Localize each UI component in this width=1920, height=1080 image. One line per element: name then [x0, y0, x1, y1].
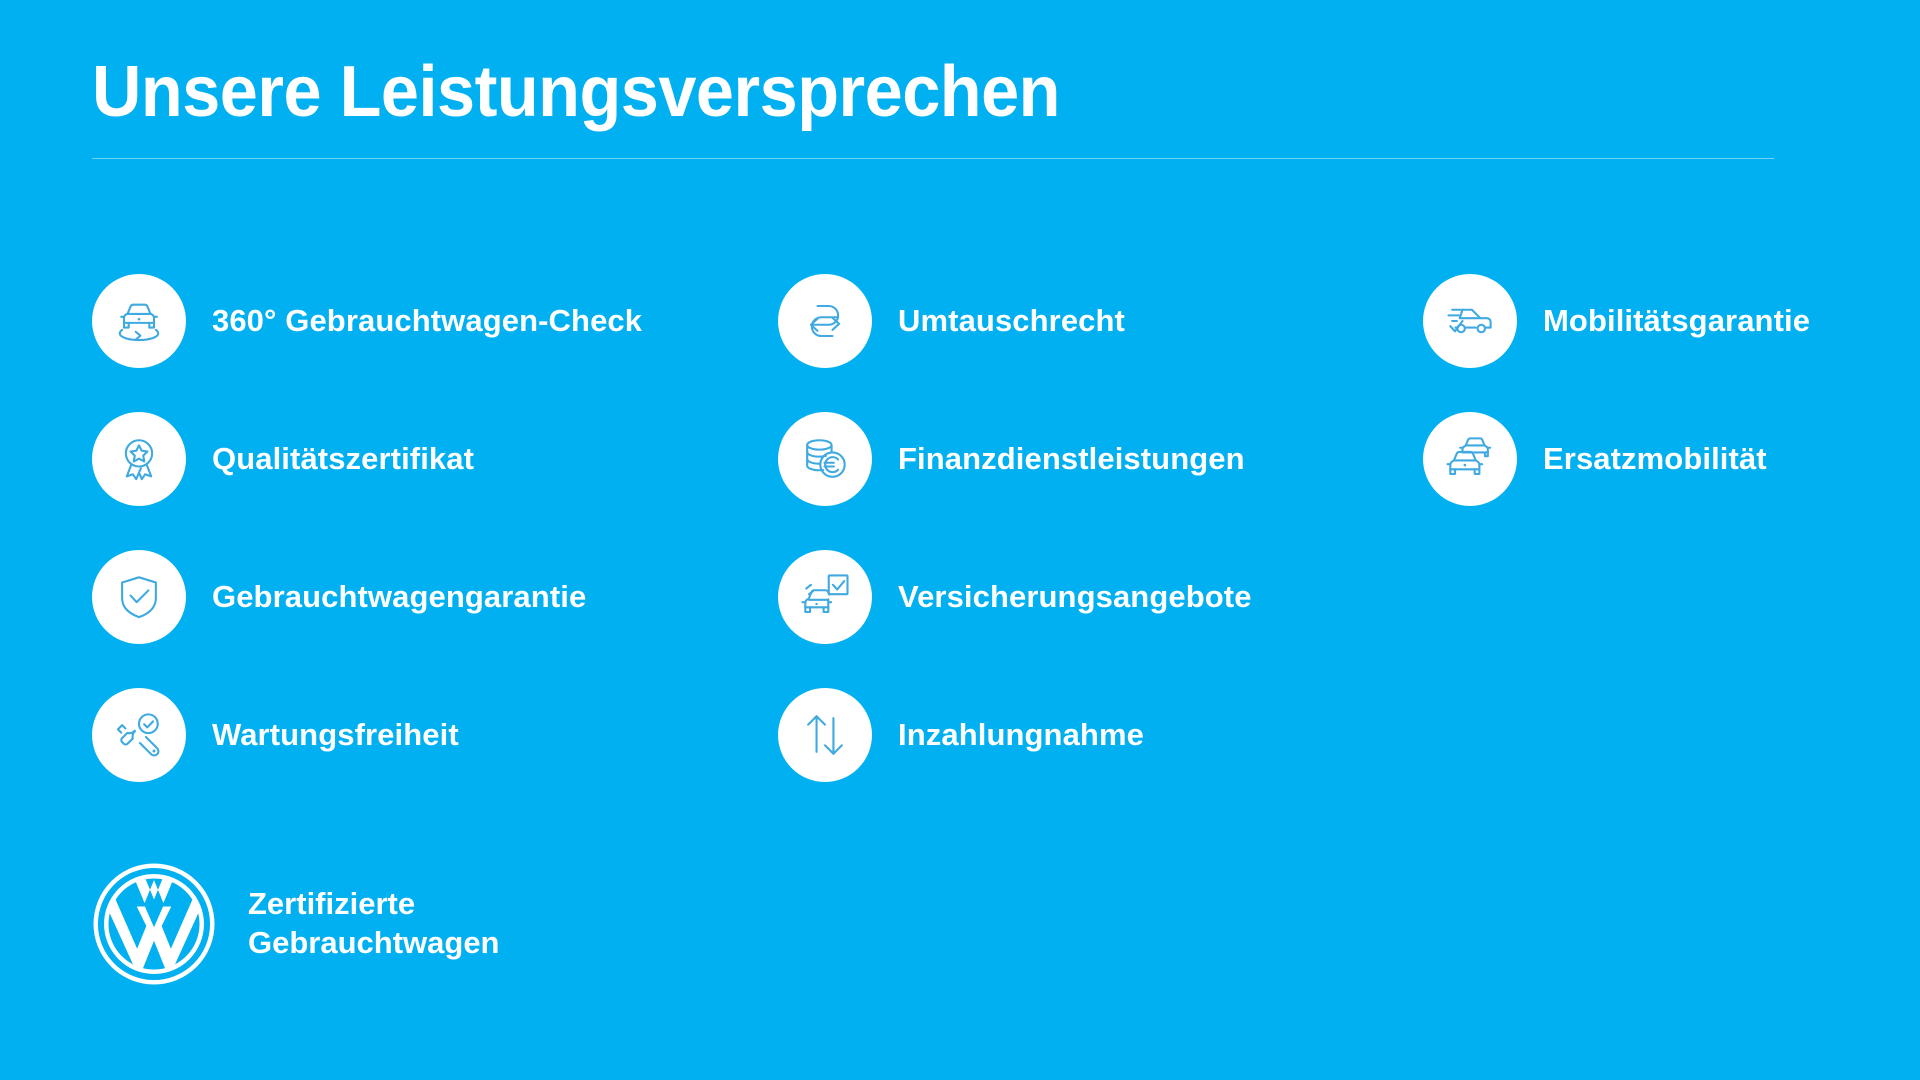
- brand-text: Zertifizierte Gebrauchtwagen: [248, 885, 500, 963]
- wrench-check-icon: [92, 688, 186, 782]
- promise-item-replacement-mobility[interactable]: Ersatzmobilität: [1423, 406, 1863, 511]
- promise-poster: Unsere Leistungsversprechen: [0, 0, 1920, 1080]
- promise-column-2: Umtauschrecht Finanz: [778, 268, 1423, 787]
- promise-label: Inzahlungnahme: [898, 717, 1144, 753]
- title-divider: [92, 158, 1774, 159]
- coins-euro-icon: [778, 412, 872, 506]
- page-title: Unsere Leistungsversprechen: [92, 56, 1775, 128]
- promise-label: Versicherungsangebote: [898, 579, 1252, 615]
- promise-label: Finanzdienstleistungen: [898, 441, 1245, 477]
- promise-column-3: Mobilitätsgarantie: [1423, 268, 1863, 787]
- promise-item-exchange-right[interactable]: Umtauschrecht: [778, 268, 1423, 373]
- promise-item-mobility-guarantee[interactable]: Mobilitätsgarantie: [1423, 268, 1863, 373]
- shield-check-icon: [92, 550, 186, 644]
- promise-label: Ersatzmobilität: [1543, 441, 1767, 477]
- promise-label: Umtauschrecht: [898, 303, 1125, 339]
- promise-label: Wartungsfreiheit: [212, 717, 459, 753]
- brand-lockup: Zertifizierte Gebrauchtwagen: [92, 862, 500, 986]
- exchange-arrows-icon: [778, 274, 872, 368]
- header: Unsere Leistungsversprechen: [92, 56, 1864, 159]
- promise-label: 360° Gebrauchtwagen-Check: [212, 303, 642, 339]
- promise-columns: 360° Gebrauchtwagen-Check Qualitätszerti…: [92, 268, 1882, 787]
- promise-label: Mobilitätsgarantie: [1543, 303, 1810, 339]
- promise-column-1: 360° Gebrauchtwagen-Check Qualitätszerti…: [92, 268, 778, 787]
- promise-label: Qualitätszertifikat: [212, 441, 474, 477]
- promise-item-car-360-check[interactable]: 360° Gebrauchtwagen-Check: [92, 268, 778, 373]
- promise-item-insurance-offers[interactable]: Versicherungsangebote: [778, 544, 1423, 649]
- car-motion-check-icon: [1423, 274, 1517, 368]
- promise-item-financial-services[interactable]: Finanzdienstleistungen: [778, 406, 1423, 511]
- promise-label: Gebrauchtwagengarantie: [212, 579, 586, 615]
- promise-item-quality-certificate[interactable]: Qualitätszertifikat: [92, 406, 778, 511]
- promise-item-trade-in[interactable]: Inzahlungnahme: [778, 682, 1423, 787]
- two-cars-icon: [1423, 412, 1517, 506]
- promise-item-used-car-warranty[interactable]: Gebrauchtwagengarantie: [92, 544, 778, 649]
- car-checkbox-icon: [778, 550, 872, 644]
- volkswagen-logo: [92, 862, 216, 986]
- award-ribbon-star-icon: [92, 412, 186, 506]
- promise-item-maintenance-free[interactable]: Wartungsfreiheit: [92, 682, 778, 787]
- arrows-up-down-icon: [778, 688, 872, 782]
- car-360-check-icon: [92, 274, 186, 368]
